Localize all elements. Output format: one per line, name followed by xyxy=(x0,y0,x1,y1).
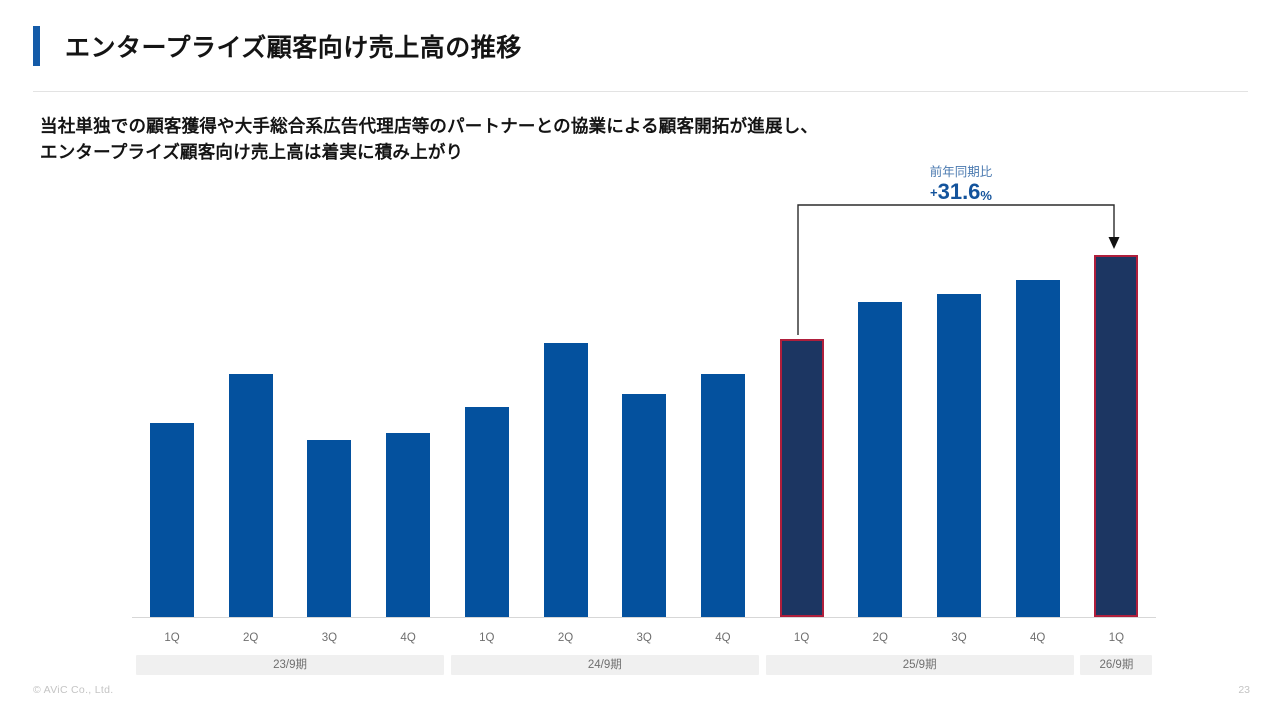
growth-number: 31.6 xyxy=(938,179,981,204)
bar[interactable] xyxy=(622,394,666,617)
x-axis-tick-label: 1Q xyxy=(1076,632,1156,644)
x-axis-tick-label: 3Q xyxy=(289,632,369,644)
period-band-label: 24/9期 xyxy=(451,655,759,675)
bar[interactable] xyxy=(229,374,273,617)
period-band: 26/9期 xyxy=(1080,655,1152,675)
bar-highlighted[interactable] xyxy=(780,339,824,617)
period-band-label: 26/9期 xyxy=(1080,655,1152,675)
x-axis-tick-label: 1Q xyxy=(762,632,842,644)
bar-highlighted[interactable] xyxy=(1094,255,1138,617)
bar[interactable] xyxy=(386,433,430,617)
period-band: 25/9期 xyxy=(766,655,1074,675)
bar[interactable] xyxy=(150,423,194,617)
bar[interactable] xyxy=(465,407,509,617)
bar[interactable] xyxy=(307,440,351,617)
x-axis-tick-label: 4Q xyxy=(683,632,763,644)
footer-page-number: 23 xyxy=(1238,684,1250,696)
bar-chart: 1Q2Q3Q4Q1Q2Q3Q4Q1Q2Q3Q4Q1Q 23/9期24/9期25/… xyxy=(0,0,1280,720)
growth-sign: + xyxy=(930,185,938,200)
x-axis-tick-label: 3Q xyxy=(919,632,999,644)
bar[interactable] xyxy=(1016,280,1060,617)
growth-annotation-value: +31.6% xyxy=(876,180,1046,208)
bar[interactable] xyxy=(937,294,981,617)
bar[interactable] xyxy=(544,343,588,617)
period-band: 24/9期 xyxy=(451,655,759,675)
bar[interactable] xyxy=(701,374,745,617)
period-band-label: 25/9期 xyxy=(766,655,1074,675)
x-axis-tick-label: 1Q xyxy=(447,632,527,644)
chart-baseline-axis xyxy=(132,617,1156,618)
period-band-label: 23/9期 xyxy=(136,655,444,675)
x-axis-tick-label: 2Q xyxy=(840,632,920,644)
x-axis-tick-label: 4Q xyxy=(998,632,1078,644)
footer-copyright: © AViC Co., Ltd. xyxy=(33,684,113,696)
growth-annotation: 前年同期比 +31.6% xyxy=(876,164,1046,208)
bar[interactable] xyxy=(858,302,902,617)
period-band: 23/9期 xyxy=(136,655,444,675)
x-axis-tick-label: 3Q xyxy=(604,632,684,644)
x-axis-tick-label: 2Q xyxy=(526,632,606,644)
x-axis-tick-label: 1Q xyxy=(132,632,212,644)
x-axis-tick-label: 4Q xyxy=(368,632,448,644)
growth-annotation-label: 前年同期比 xyxy=(876,164,1046,180)
growth-unit: % xyxy=(980,188,992,203)
x-axis-tick-label: 2Q xyxy=(211,632,291,644)
